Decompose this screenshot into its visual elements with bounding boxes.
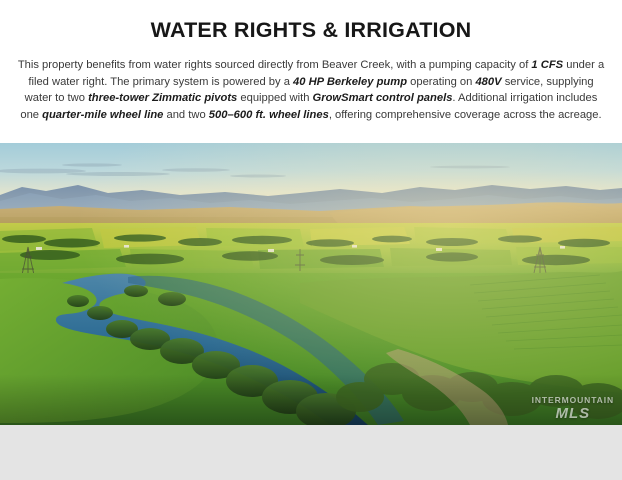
- body-text: and two: [163, 109, 208, 121]
- emphasis-text: GrowSmart control panels: [313, 92, 453, 104]
- body-text: This property benefits from water rights…: [18, 59, 532, 71]
- body-text: operating on: [407, 76, 475, 88]
- vignette: [0, 143, 622, 425]
- body-text: , offering comprehensive coverage across…: [329, 109, 602, 121]
- property-photo: INTERMOUNTAIN MLS: [0, 143, 622, 425]
- section-description: This property benefits from water rights…: [14, 43, 608, 124]
- aerial-landscape-image: [0, 143, 622, 425]
- page-title: WATER RIGHTS & IRRIGATION: [14, 0, 608, 43]
- emphasis-text: three-tower Zimmatic pivots: [88, 92, 237, 104]
- body-text: equipped with: [237, 92, 312, 104]
- emphasis-text: 1 CFS: [531, 59, 563, 71]
- text-block: WATER RIGHTS & IRRIGATION This property …: [0, 0, 622, 124]
- water-rights-irrigation-section: WATER RIGHTS & IRRIGATION This property …: [0, 0, 622, 480]
- emphasis-text: 480V: [475, 76, 501, 88]
- emphasis-text: 40 HP Berkeley pump: [293, 76, 407, 88]
- emphasis-text: 500–600 ft. wheel lines: [209, 109, 329, 121]
- footer-band: [0, 425, 622, 480]
- emphasis-text: quarter-mile wheel line: [42, 109, 163, 121]
